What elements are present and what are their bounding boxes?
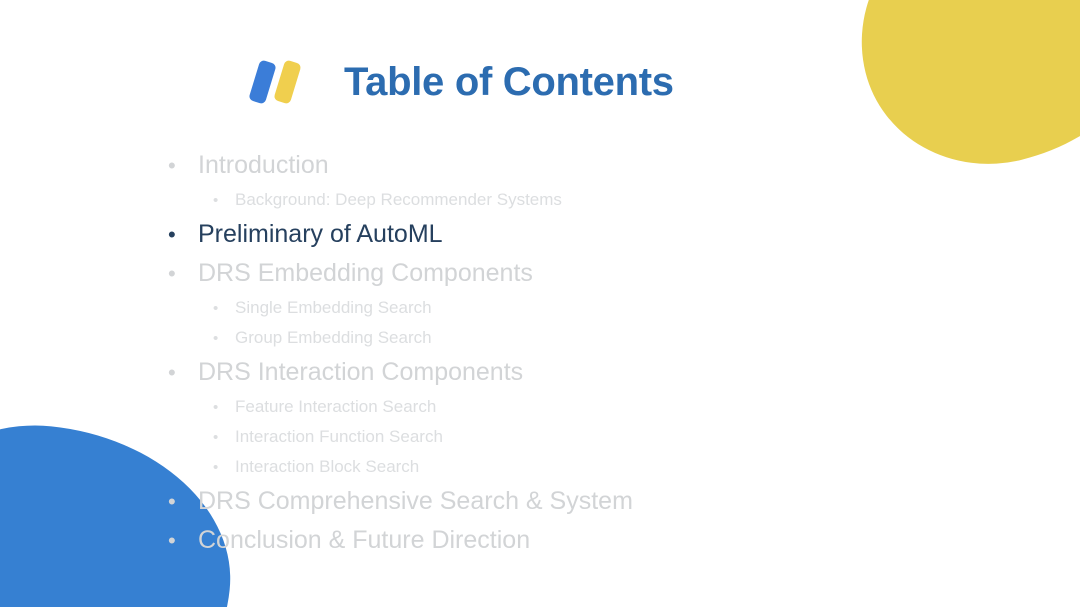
table-of-contents-list: •Introduction•Background: Deep Recommend… bbox=[168, 146, 868, 560]
toc-item[interactable]: •DRS Embedding Components bbox=[168, 254, 868, 293]
presentation-slide: Table of Contents •Introduction•Backgrou… bbox=[0, 0, 1080, 607]
toc-item-label: Introduction bbox=[198, 146, 329, 184]
toc-item-label: Preliminary of AutoML bbox=[198, 215, 443, 253]
bullet-icon: • bbox=[168, 483, 198, 521]
logo-bar-yellow-icon bbox=[273, 59, 302, 104]
toc-item[interactable]: •DRS Interaction Components bbox=[168, 353, 868, 392]
bullet-icon: • bbox=[213, 324, 235, 353]
toc-item-label: DRS Interaction Components bbox=[198, 353, 523, 391]
toc-item-label: Background: Deep Recommender Systems bbox=[235, 185, 562, 214]
toc-item-label: Feature Interaction Search bbox=[235, 392, 436, 421]
toc-item-label: Conclusion & Future Direction bbox=[198, 521, 530, 559]
bullet-icon: • bbox=[168, 216, 198, 254]
toc-item-label: DRS Embedding Components bbox=[198, 254, 533, 292]
toc-item[interactable]: •Single Embedding Search bbox=[168, 293, 868, 323]
toc-item[interactable]: •Conclusion & Future Direction bbox=[168, 521, 868, 560]
toc-item-label: Interaction Function Search bbox=[235, 422, 443, 451]
toc-item-label: Single Embedding Search bbox=[235, 293, 432, 322]
bullet-icon: • bbox=[213, 453, 235, 482]
toc-item[interactable]: •Introduction bbox=[168, 146, 868, 185]
toc-item[interactable]: •DRS Comprehensive Search & System bbox=[168, 482, 868, 521]
bullet-icon: • bbox=[213, 393, 235, 422]
bullet-icon: • bbox=[213, 186, 235, 215]
toc-item[interactable]: •Interaction Function Search bbox=[168, 422, 868, 452]
logo-bar-blue-icon bbox=[248, 59, 277, 104]
slide-header: Table of Contents bbox=[248, 57, 674, 107]
toc-item[interactable]: •Background: Deep Recommender Systems bbox=[168, 185, 868, 215]
toc-item-label: Interaction Block Search bbox=[235, 452, 419, 481]
bullet-icon: • bbox=[213, 423, 235, 452]
bullet-icon: • bbox=[213, 294, 235, 323]
toc-item-label: DRS Comprehensive Search & System bbox=[198, 482, 633, 520]
toc-item[interactable]: •Interaction Block Search bbox=[168, 452, 868, 482]
logo-icon bbox=[248, 57, 310, 107]
bullet-icon: • bbox=[168, 522, 198, 560]
decorative-blob-yellow-top-right bbox=[833, 0, 1080, 191]
toc-item[interactable]: •Feature Interaction Search bbox=[168, 392, 868, 422]
bullet-icon: • bbox=[168, 255, 198, 293]
bullet-icon: • bbox=[168, 354, 198, 392]
page-title: Table of Contents bbox=[344, 62, 674, 102]
bullet-icon: • bbox=[168, 147, 198, 185]
toc-item[interactable]: •Preliminary of AutoML bbox=[168, 215, 868, 254]
toc-item-label: Group Embedding Search bbox=[235, 323, 432, 352]
toc-item[interactable]: •Group Embedding Search bbox=[168, 323, 868, 353]
